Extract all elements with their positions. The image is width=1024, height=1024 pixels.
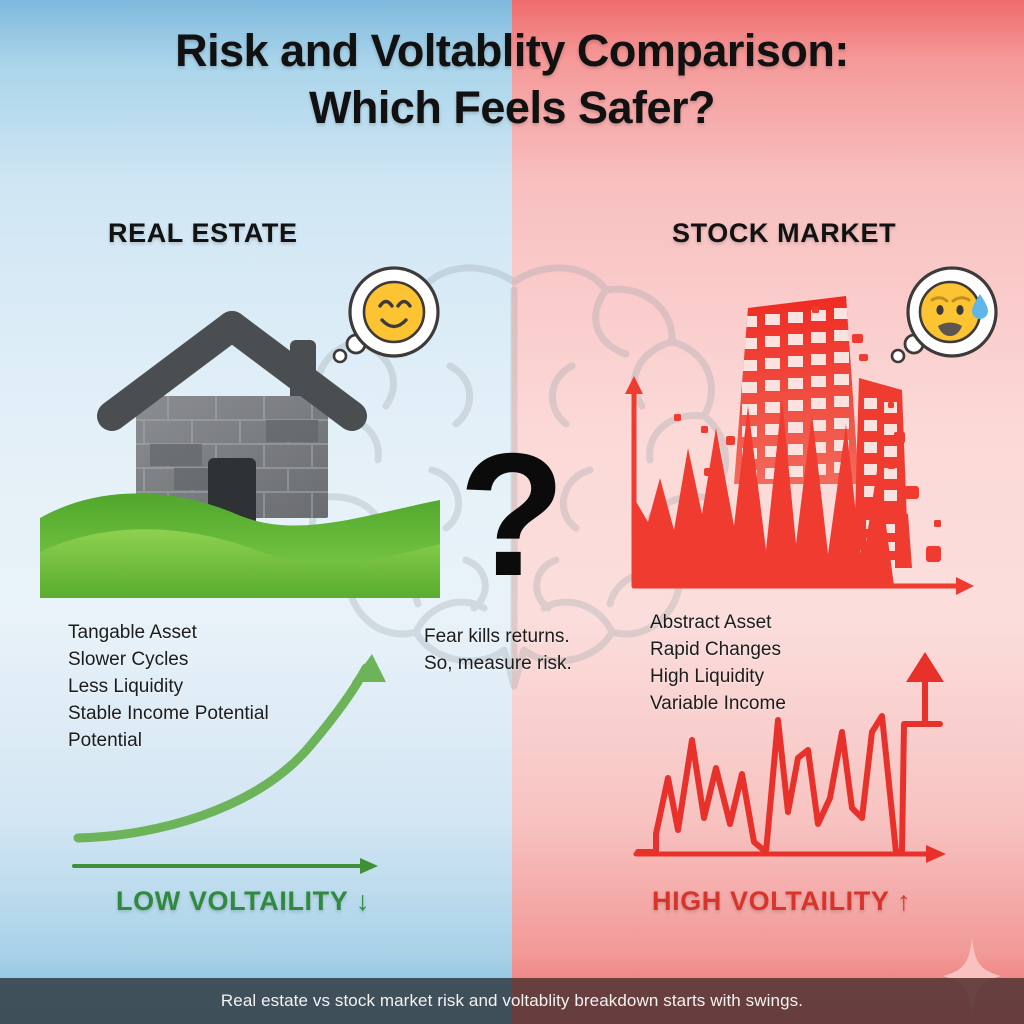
list-item: Slower Cycles <box>68 647 269 674</box>
low-volatility-label: LOW VOLTAILITY ↓ <box>116 886 370 917</box>
infographic-canvas: Risk and Voltablity Comparison: Which Fe… <box>0 0 1024 1024</box>
list-item: Abstract Asset <box>650 610 786 637</box>
list-item: Rapid Changes <box>650 637 786 664</box>
list-item: Stable Income Potential <box>68 701 269 728</box>
center-caption: Fear kills returns. So, measure risk. <box>424 624 634 678</box>
right-column-header: STOCK MARKET <box>672 218 896 249</box>
title-line-2: Which Feels Safer? <box>0 79 1024 136</box>
high-volatility-label: HIGH VOLTAILITY ↑ <box>652 886 911 917</box>
left-feature-list: Tangable Asset Slower Cycles Less Liquid… <box>68 620 269 755</box>
title-line-1: Risk and Voltablity Comparison: <box>0 22 1024 79</box>
list-item: High Liquidity <box>650 664 786 691</box>
center-caption-line-2: So, measure risk. <box>424 651 634 678</box>
right-feature-list: Abstract Asset Rapid Changes High Liquid… <box>650 610 786 718</box>
thought-bubble-smiling-face <box>330 264 448 374</box>
center-question-mark: ? <box>0 428 1024 603</box>
smiling-face-emoji <box>364 282 424 342</box>
footer-caption: Real estate vs stock market risk and vol… <box>221 991 803 1011</box>
thought-bubble-anxious-face <box>888 264 1006 374</box>
center-caption-line-1: Fear kills returns. <box>424 624 634 651</box>
list-item: Tangable Asset <box>68 620 269 647</box>
list-item: Variable Income <box>650 691 786 718</box>
list-item: Potential <box>68 728 269 755</box>
left-column-header: REAL ESTATE <box>108 218 298 249</box>
footer-bar: Real estate vs stock market risk and vol… <box>0 978 1024 1024</box>
list-item: Less Liquidity <box>68 674 269 701</box>
page-title: Risk and Voltablity Comparison: Which Fe… <box>0 22 1024 136</box>
